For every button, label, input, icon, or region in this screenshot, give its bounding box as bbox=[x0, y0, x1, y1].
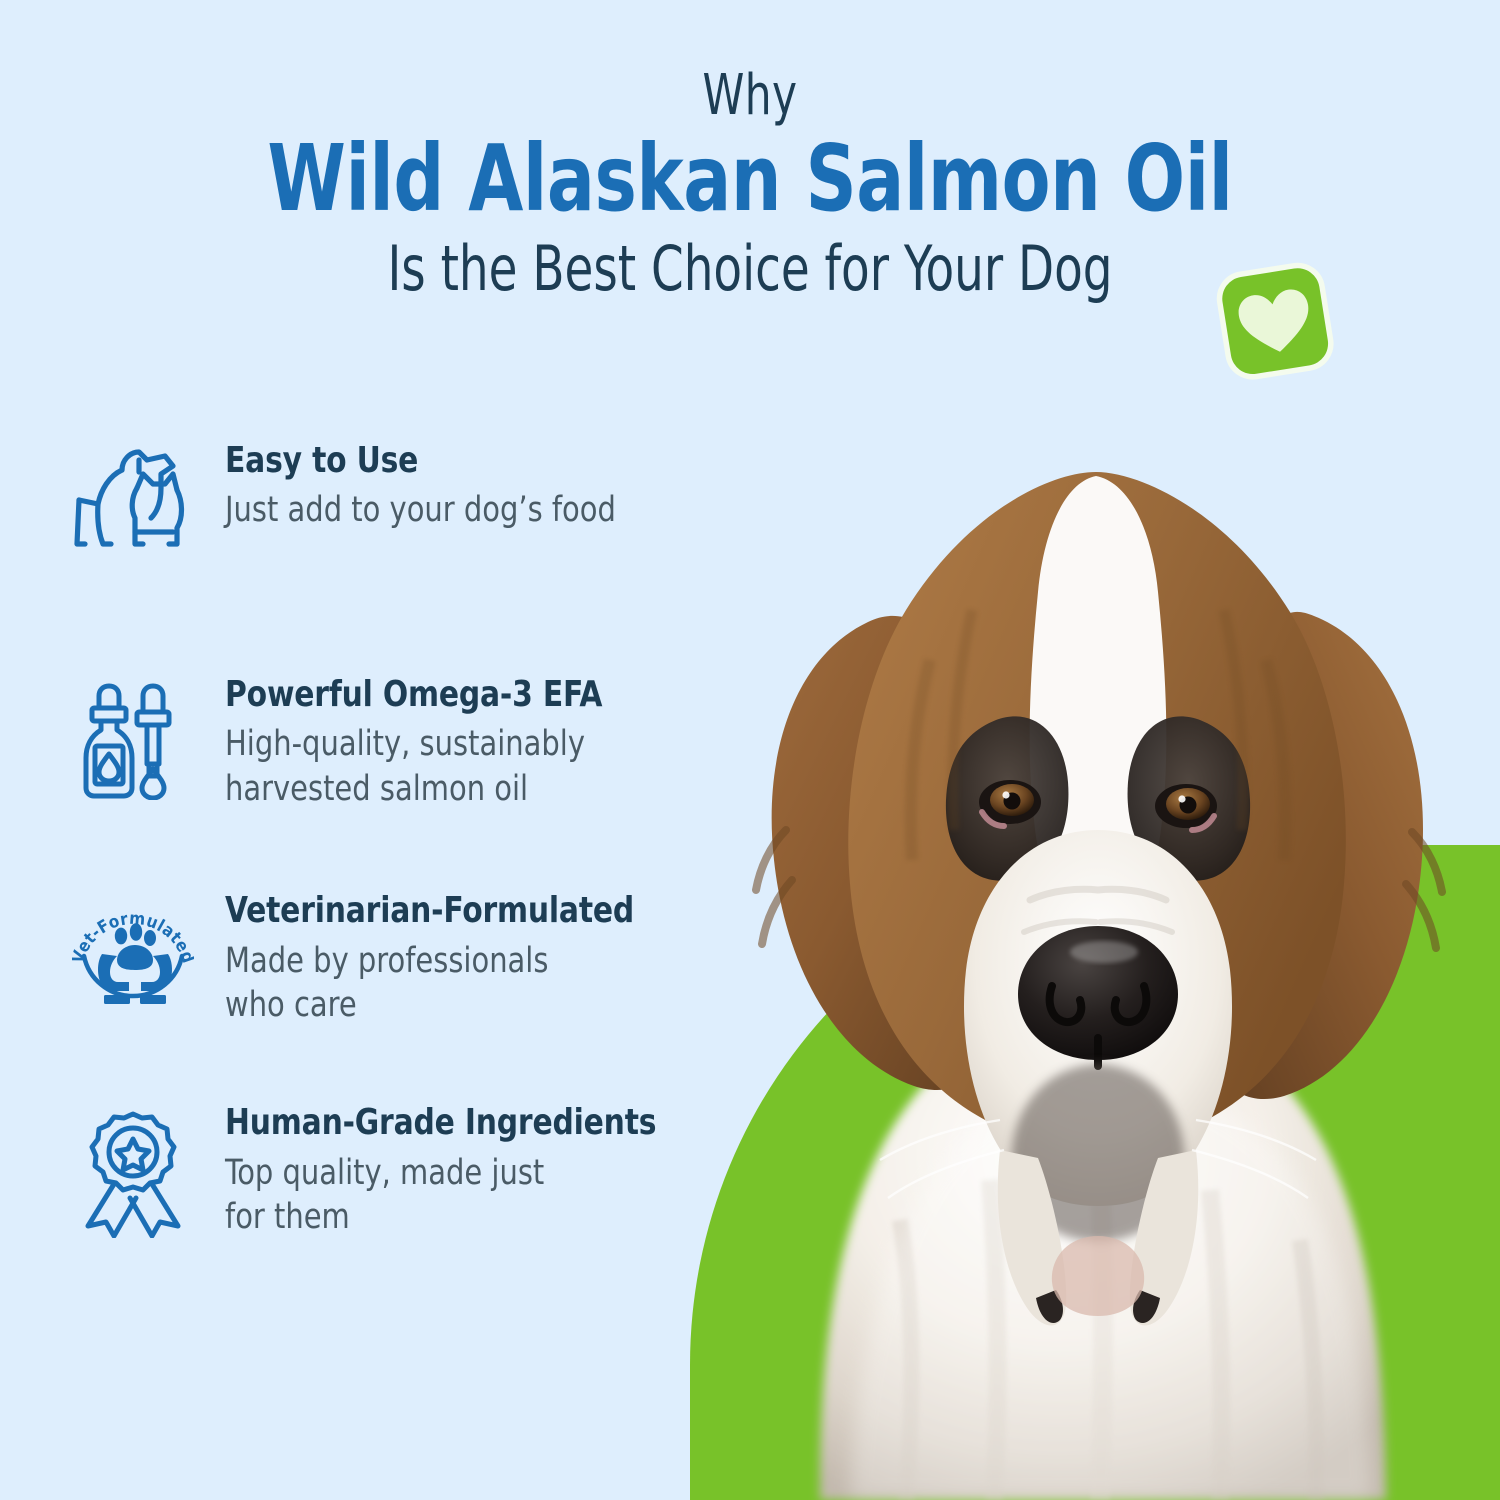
feature-title: Human-Grade Ingredients bbox=[225, 1102, 656, 1144]
promo-image: Why Wild Alaskan Salmon Oil Is the Best … bbox=[0, 0, 1500, 1500]
dog-and-cat-icon bbox=[70, 440, 195, 556]
award-ribbon-icon bbox=[70, 1102, 195, 1238]
page-title: Wild Alaskan Salmon Oil bbox=[105, 127, 1395, 230]
feature-text: Veterinarian-Formulated Made by professi… bbox=[195, 890, 670, 1028]
page-subtitle: Is the Best Choice for Your Dog bbox=[120, 234, 1380, 303]
feature-desc: Made by professionals who care bbox=[225, 939, 634, 1029]
feature-list: Easy to Use Just add to your dog’s food bbox=[0, 440, 760, 1240]
green-background-shape bbox=[690, 845, 1500, 1500]
heart-badge bbox=[1216, 256, 1336, 384]
feature-title: Veterinarian-Formulated bbox=[225, 890, 634, 932]
feature-item-vet-formulated: Vet-Formulated bbox=[0, 890, 760, 1028]
feature-title: Easy to Use bbox=[225, 440, 616, 482]
feature-text: Powerful Omega-3 EFA High-quality, susta… bbox=[195, 674, 635, 812]
vet-formulated-seal-icon: Vet-Formulated bbox=[70, 890, 195, 1018]
feature-text: Easy to Use Just add to your dog’s food bbox=[195, 440, 650, 533]
feature-desc: Top quality, made just for them bbox=[225, 1151, 656, 1241]
feature-desc: Just add to your dog’s food bbox=[225, 488, 616, 533]
eyebrow-text: Why bbox=[120, 66, 1380, 125]
feature-text: Human-Grade Ingredients Top quality, mad… bbox=[195, 1102, 694, 1240]
feature-item-omega-3: Powerful Omega-3 EFA High-quality, susta… bbox=[0, 674, 760, 812]
feature-item-easy-to-use: Easy to Use Just add to your dog’s food bbox=[0, 440, 760, 556]
dropper-bottle-icon bbox=[70, 674, 195, 800]
feature-item-human-grade: Human-Grade Ingredients Top quality, mad… bbox=[0, 1102, 760, 1240]
feature-desc: High-quality, sustainably harvested salm… bbox=[225, 722, 602, 812]
feature-title: Powerful Omega-3 EFA bbox=[225, 674, 602, 716]
